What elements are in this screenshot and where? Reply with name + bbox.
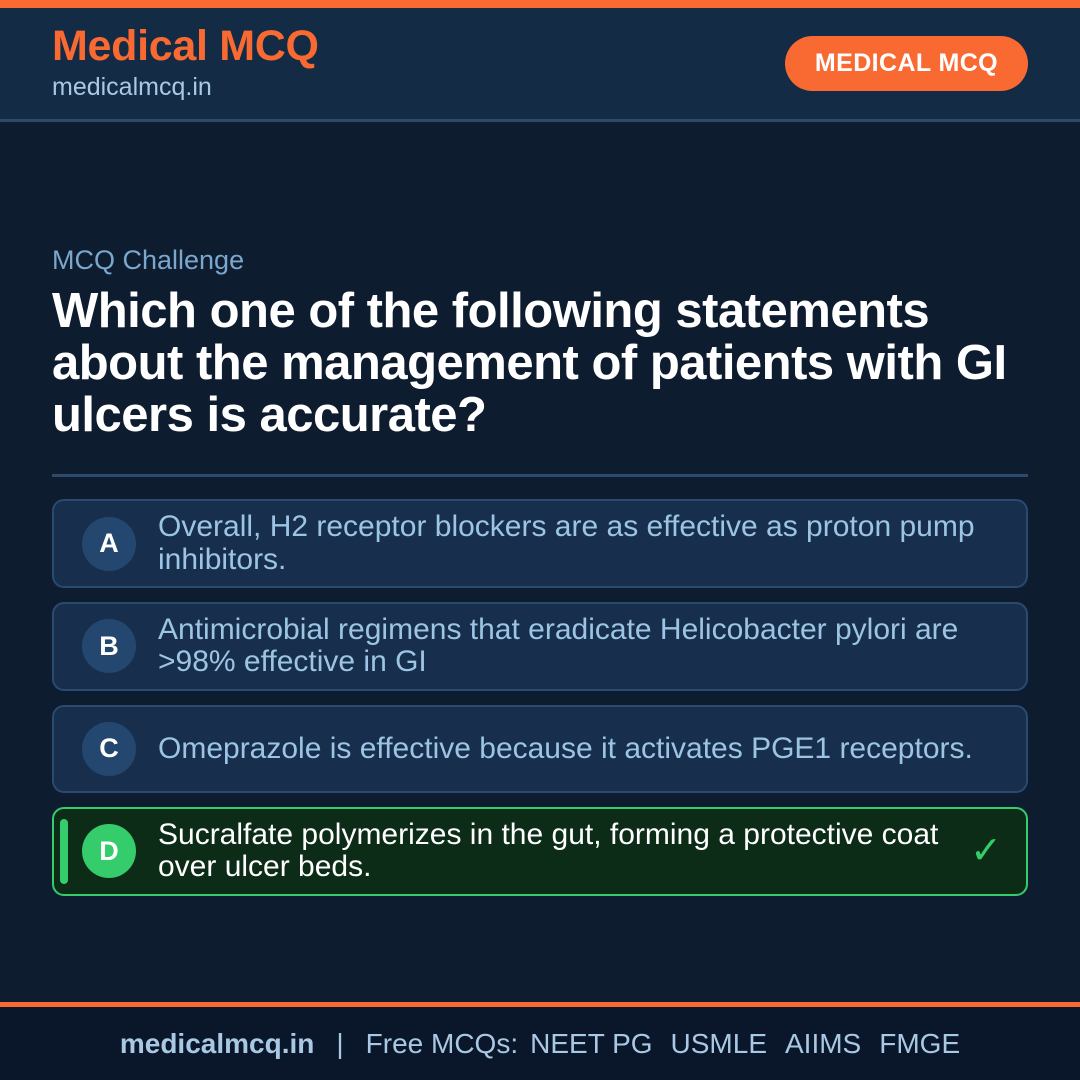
footer-exam-fmge: FMGE bbox=[879, 1028, 960, 1060]
options-list: A Overall, H2 receptor blockers are as e… bbox=[52, 499, 1028, 895]
footer-site-url: medicalmcq.in bbox=[120, 1028, 315, 1060]
footer-label: Free MCQs: bbox=[366, 1028, 518, 1060]
option-badge-d: D bbox=[82, 824, 136, 878]
option-text-a: Overall, H2 receptor blockers are as eff… bbox=[158, 511, 1006, 576]
option-row-c[interactable]: C Omeprazole is effective because it act… bbox=[52, 705, 1028, 793]
footer-exam-usmle: USMLE bbox=[671, 1028, 767, 1060]
brand-title: Medical MCQ bbox=[52, 24, 319, 69]
option-text-c: Omeprazole is effective because it activ… bbox=[158, 733, 1006, 765]
eyebrow-label: MCQ Challenge bbox=[52, 244, 1028, 276]
page-footer: medicalmcq.in | Free MCQs: NEET PG USMLE… bbox=[0, 1002, 1080, 1080]
question-divider bbox=[52, 474, 1028, 477]
option-row-a[interactable]: A Overall, H2 receptor blockers are as e… bbox=[52, 499, 1028, 588]
option-row-d[interactable]: D Sucralfate polymerizes in the gut, for… bbox=[52, 807, 1028, 896]
brand-block: Medical MCQ medicalmcq.in bbox=[52, 24, 319, 104]
correct-accent-bar bbox=[60, 819, 68, 884]
header-badge: MEDICAL MCQ bbox=[785, 36, 1028, 91]
option-text-d: Sucralfate polymerizes in the gut, formi… bbox=[158, 819, 966, 884]
footer-separator: | bbox=[336, 1028, 343, 1060]
footer-exam-neet-pg: NEET PG bbox=[530, 1028, 652, 1060]
top-accent-bar bbox=[0, 0, 1080, 8]
option-badge-a: A bbox=[82, 517, 136, 571]
option-badge-b: B bbox=[82, 619, 136, 673]
check-icon: ✓ bbox=[966, 832, 1006, 870]
option-row-b[interactable]: B Antimicrobial regimens that eradicate … bbox=[52, 602, 1028, 691]
page-header: Medical MCQ medicalmcq.in MEDICAL MCQ bbox=[0, 8, 1080, 122]
main-content: MCQ Challenge Which one of the following… bbox=[0, 122, 1080, 1002]
option-badge-c: C bbox=[82, 722, 136, 776]
option-text-b: Antimicrobial regimens that eradicate He… bbox=[158, 614, 1006, 679]
footer-inner: medicalmcq.in | Free MCQs: NEET PG USMLE… bbox=[120, 1028, 960, 1060]
footer-exam-aiims: AIIMS bbox=[785, 1028, 861, 1060]
brand-site-url: medicalmcq.in bbox=[52, 71, 319, 104]
question-text: Which one of the following statements ab… bbox=[52, 286, 1012, 442]
